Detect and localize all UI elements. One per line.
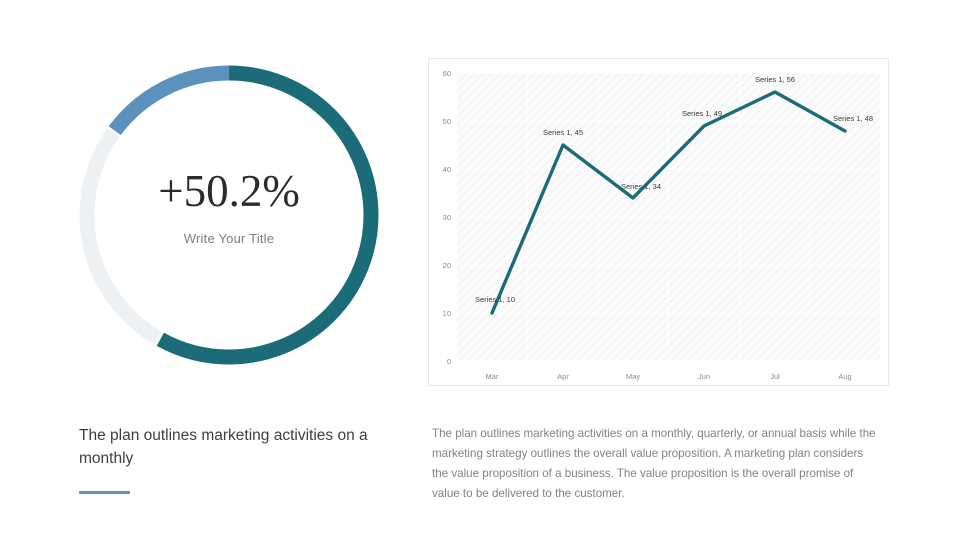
left-heading: The plan outlines marketing activities o… [79,424,379,470]
x-axis-labels: Mar Apr May Jun Jul Aug [486,372,852,381]
x-tick-aug: Aug [838,372,851,381]
x-tick-jun: Jun [698,372,710,381]
donut-svg [72,58,386,372]
y-tick-30: 30 [443,213,451,222]
data-label-apr: Series 1, 45 [543,128,583,137]
data-label-mar: Series 1, 10 [475,295,515,304]
y-tick-0: 0 [447,357,451,366]
data-label-may: Series 1, 34 [621,182,661,191]
y-tick-20: 20 [443,261,451,270]
line-chart-container: 60 50 40 30 20 10 0 Mar Apr May Jun Jul … [428,58,889,386]
x-tick-jul: Jul [770,372,780,381]
donut-chart: +50.2% Write Your Title [72,58,386,372]
y-tick-40: 40 [443,165,451,174]
left-text-block: The plan outlines marketing activities o… [79,424,379,494]
x-tick-apr: Apr [557,372,569,381]
data-label-aug: Series 1, 48 [833,114,873,123]
accent-underline [79,491,130,494]
body-paragraph: The plan outlines marketing activities o… [432,424,877,504]
y-tick-50: 50 [443,117,451,126]
right-text-block: The plan outlines marketing activities o… [432,424,877,504]
y-axis-labels: 60 50 40 30 20 10 0 [443,69,451,366]
data-label-jun: Series 1, 49 [682,109,722,118]
y-tick-10: 10 [443,309,451,318]
data-label-jul: Series 1, 56 [755,75,795,84]
x-tick-may: May [626,372,640,381]
line-chart-svg: 60 50 40 30 20 10 0 Mar Apr May Jun Jul … [429,59,888,385]
x-tick-mar: Mar [486,372,499,381]
y-tick-60: 60 [443,69,451,78]
slide-canvas: +50.2% Write Your Title [0,0,980,551]
